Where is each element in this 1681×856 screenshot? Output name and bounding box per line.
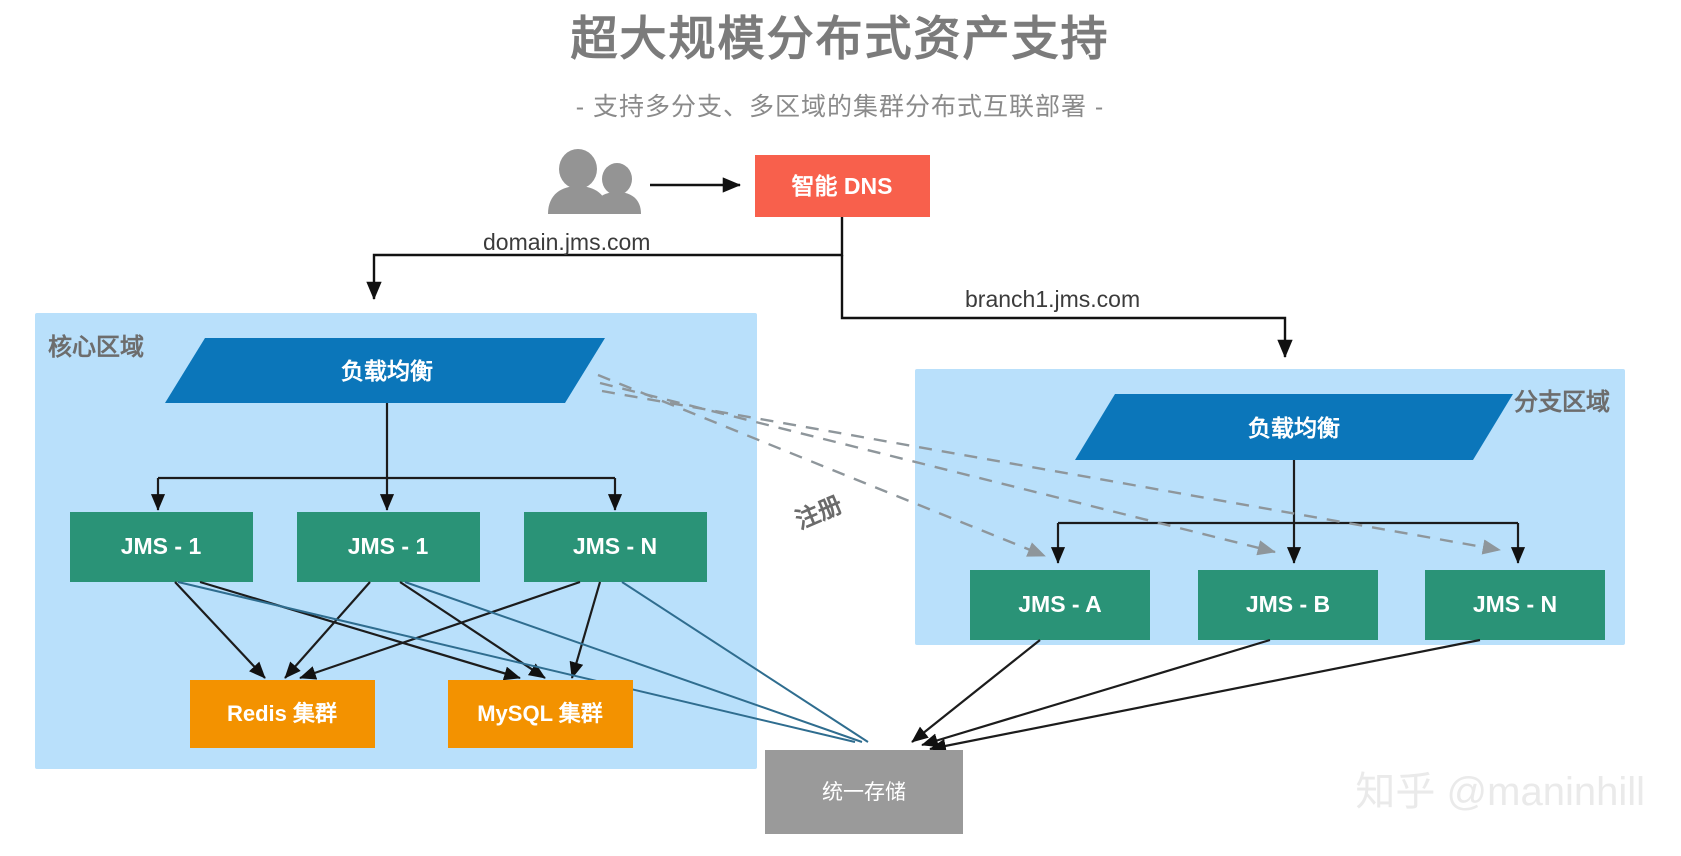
core-node-2-label: JMS - 1	[348, 533, 429, 559]
branch-zone-label: 分支区域	[1514, 389, 1610, 416]
branch-node-b-label: JMS - B	[1246, 591, 1330, 617]
core-node-1-label: JMS - 1	[121, 533, 202, 559]
register-label: 注册	[791, 490, 846, 535]
watermark: 知乎 @maninhill	[1355, 770, 1645, 814]
domain-main-label: domain.jms.com	[483, 229, 650, 255]
edge-branch-nodeN-to-storage	[930, 640, 1480, 749]
dns-label: 智能 DNS	[792, 173, 893, 199]
page-title: 超大规模分布式资产支持	[571, 12, 1110, 65]
core-zone-label: 核心区域	[48, 333, 144, 361]
diagram-canvas: 超大规模分布式资产支持 - 支持多分支、多区域的集群分布式互联部署 - 核心区域…	[0, 0, 1681, 856]
core-load-balancer-label: 负载均衡	[341, 358, 433, 384]
unified-storage-label: 统一存储	[822, 781, 906, 804]
redis-cluster-label: Redis 集群	[227, 701, 337, 726]
domain-branch-label: branch1.jms.com	[965, 286, 1140, 312]
edge-branch-nodeA-to-storage	[912, 640, 1040, 742]
core-node-3-label: JMS - N	[573, 533, 657, 559]
users-icon	[548, 149, 641, 214]
branch-load-balancer-label: 负载均衡	[1248, 415, 1340, 441]
page-subtitle: - 支持多分支、多区域的集群分布式互联部署 -	[576, 93, 1105, 121]
branch-node-a-label: JMS - A	[1018, 591, 1102, 617]
branch-node-n-label: JMS - N	[1473, 591, 1557, 617]
mysql-cluster-label: MySQL 集群	[477, 701, 603, 726]
